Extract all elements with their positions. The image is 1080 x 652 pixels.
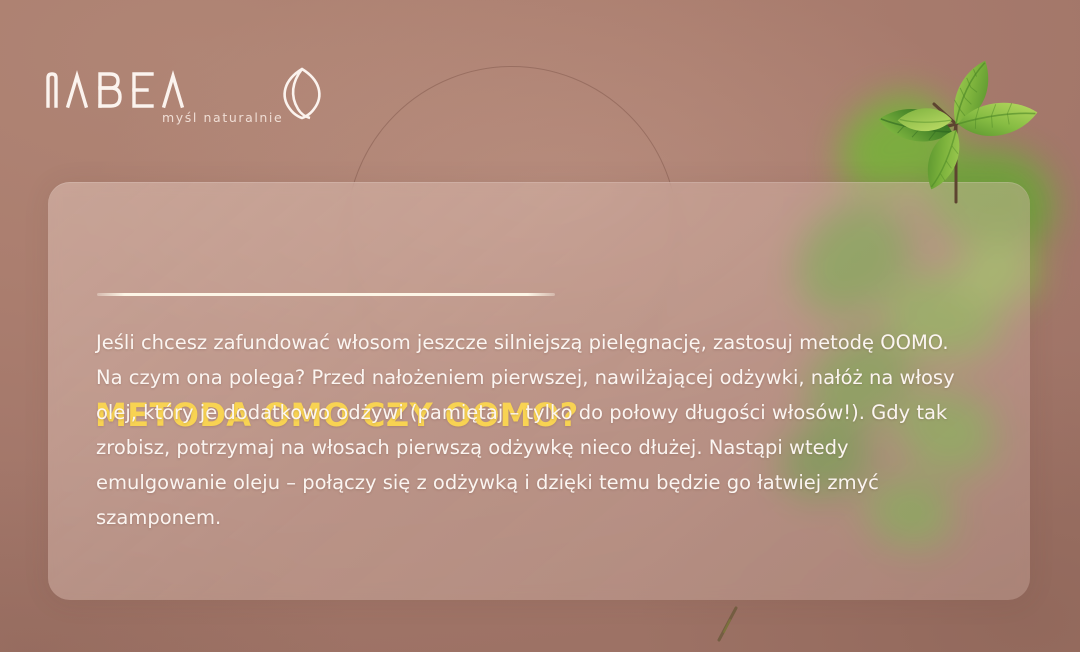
brand-logo: myśl naturalnie	[44, 66, 294, 140]
plant-stem-image	[714, 606, 740, 646]
poster-canvas: myśl naturalnie METODA OMO CZY OOMO? Jeś…	[0, 0, 1080, 652]
brand-tagline: myśl naturalnie	[162, 110, 283, 125]
card-body-text: Jeśli chcesz zafundować włosom jeszcze s…	[96, 325, 976, 535]
content-card: METODA OMO CZY OOMO? Jeśli chcesz zafund…	[48, 182, 1030, 600]
brand-wordmark	[44, 68, 254, 112]
green-leaf-sprig-image	[806, 0, 1080, 212]
title-divider	[97, 293, 555, 296]
leaf-emblem-icon	[276, 66, 328, 120]
